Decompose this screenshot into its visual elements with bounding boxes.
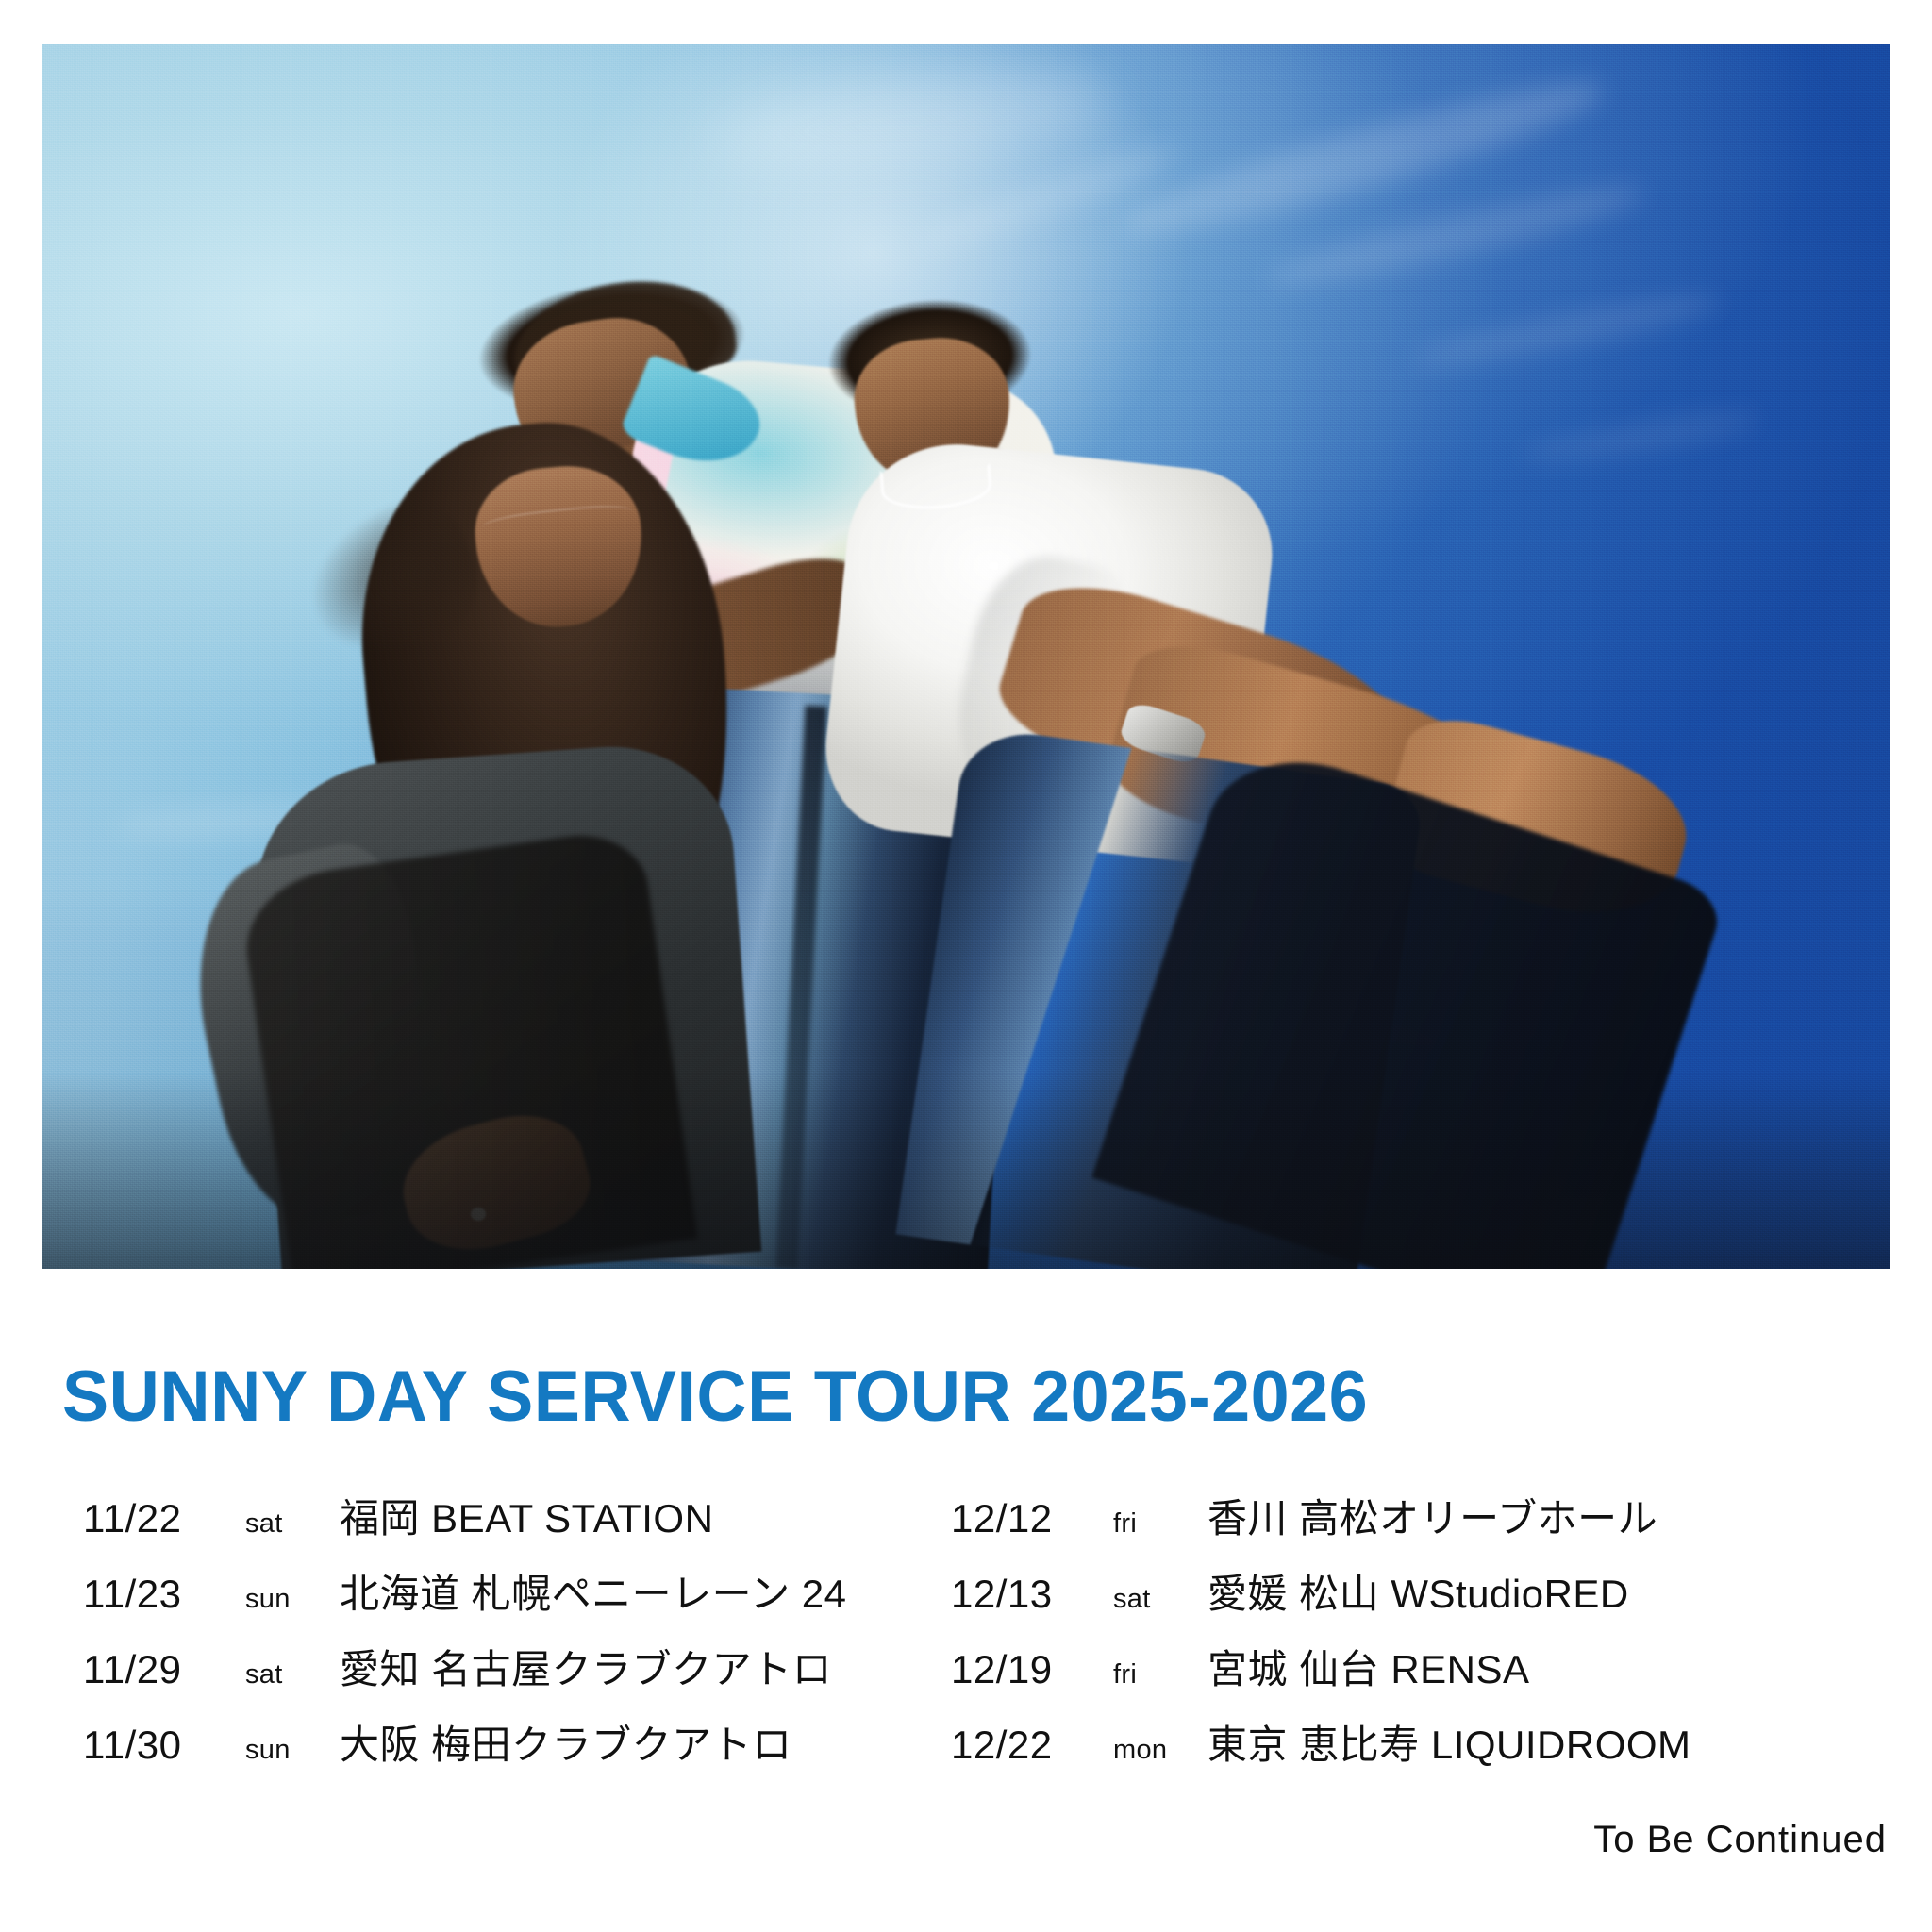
tour-date-row[interactable]: 11/22 sat 福岡 BEAT STATION (83, 1487, 951, 1562)
tour-date: 12/19 (951, 1647, 1113, 1692)
tour-date-row[interactable]: 12/13 sat 愛媛 松山 WStudioRED (951, 1562, 1894, 1638)
tour-date: 11/22 (83, 1496, 245, 1541)
tour-weekday: sat (1113, 1584, 1207, 1615)
tour-venue: 宮城 仙台 RENSA (1207, 1638, 1530, 1695)
tour-date: 11/29 (83, 1647, 245, 1692)
tour-date-row[interactable]: 12/12 fri 香川 高松オリーブホール (951, 1487, 1894, 1562)
tour-date: 12/13 (951, 1572, 1113, 1617)
tour-venue: 愛知 名古屋クラブクアトロ (340, 1638, 832, 1695)
tour-weekday: fri (1113, 1508, 1207, 1540)
tour-venue: 香川 高松オリーブホール (1207, 1487, 1657, 1544)
tour-date: 12/22 (951, 1723, 1113, 1768)
tour-venue: 大阪 梅田クラブクアトロ (340, 1713, 792, 1771)
tour-date-column-right: 12/12 fri 香川 高松オリーブホール 12/13 sat 愛媛 松山 W… (951, 1487, 1894, 1789)
tour-date-row[interactable]: 12/22 mon 東京 恵比寿 LIQUIDROOM (951, 1713, 1894, 1789)
tour-title: SUNNY DAY SERVICE TOUR 2025-2026 (62, 1361, 1368, 1433)
tour-weekday: sat (245, 1659, 340, 1690)
tour-date-column-left: 11/22 sat 福岡 BEAT STATION 11/23 sun 北海道 … (83, 1487, 951, 1789)
tour-date: 11/30 (83, 1723, 245, 1768)
tour-date-row[interactable]: 11/29 sat 愛知 名古屋クラブクアトロ (83, 1638, 951, 1713)
tour-venue: 東京 恵比寿 LIQUIDROOM (1207, 1713, 1691, 1771)
tour-date-row[interactable]: 11/30 sun 大阪 梅田クラブクアトロ (83, 1713, 951, 1789)
film-grain-overlay (42, 44, 1890, 1269)
tour-venue: 北海道 札幌ペニーレーン 24 (340, 1562, 846, 1620)
tour-date-row[interactable]: 12/19 fri 宮城 仙台 RENSA (951, 1638, 1894, 1713)
tour-weekday: mon (1113, 1735, 1207, 1766)
tour-date-row[interactable]: 11/23 sun 北海道 札幌ペニーレーン 24 (83, 1562, 951, 1638)
tour-poster: SUNNY DAY SERVICE TOUR 2025-2026 11/22 s… (0, 0, 1932, 1932)
tour-weekday: fri (1113, 1659, 1207, 1690)
tour-weekday: sun (245, 1584, 340, 1615)
tour-weekday: sun (245, 1735, 340, 1766)
tour-date: 11/23 (83, 1572, 245, 1617)
tour-weekday: sat (245, 1508, 340, 1540)
tour-venue: 愛媛 松山 WStudioRED (1207, 1562, 1629, 1620)
band-photo (42, 44, 1890, 1269)
to-be-continued-note: To Be Continued (1593, 1819, 1887, 1861)
tour-date: 12/12 (951, 1496, 1113, 1541)
tour-venue: 福岡 BEAT STATION (340, 1487, 713, 1544)
